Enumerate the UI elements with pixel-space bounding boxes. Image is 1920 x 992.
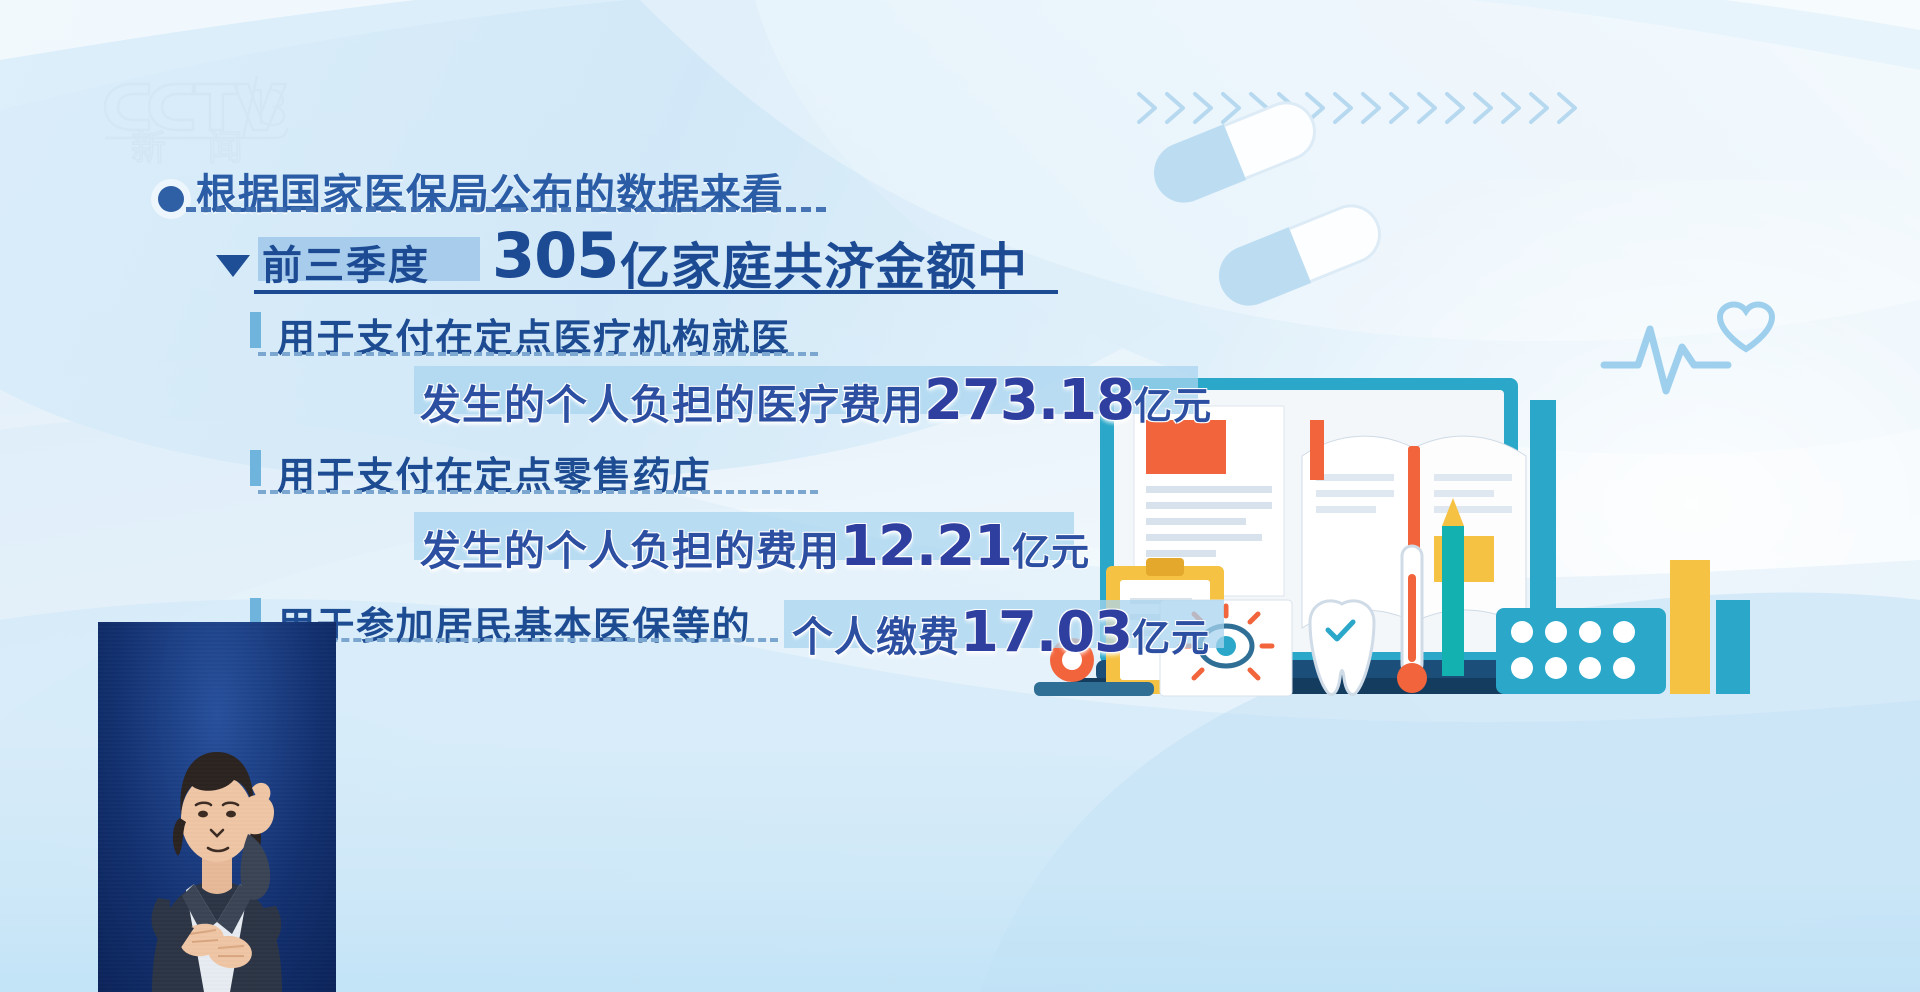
item-value-unit-1: 亿元	[1134, 386, 1212, 428]
intro-underline	[186, 207, 826, 212]
item-value-text-1: 发生的个人负担的医疗费用	[420, 382, 924, 428]
item-bar-2	[250, 450, 261, 486]
period-chip-label: 前三季度	[262, 233, 430, 291]
item-bar-1	[250, 312, 261, 348]
broadcast-graphic-stage: 新 闻	[0, 0, 1920, 992]
item-value-text-3: 个人缴费	[792, 614, 960, 660]
item-value-row-1: 发生的个人负担的医疗费用273.18亿元	[420, 368, 1212, 433]
item-value-number-2: 12.21	[840, 514, 1012, 579]
total-number: 305	[492, 219, 618, 292]
item-dashed-rule-1	[258, 352, 818, 356]
item-value-number-1: 273.18	[924, 368, 1134, 433]
dot-bullet-icon	[158, 186, 184, 212]
item-value-text-2: 发生的个人负担的费用	[420, 528, 840, 574]
item-dashed-rule-2	[258, 490, 818, 494]
item-value-row-2: 发生的个人负担的费用12.21亿元	[420, 514, 1090, 579]
item-value-number-3: 17.03	[960, 600, 1132, 665]
headline-rule	[254, 290, 1058, 294]
item-value-row-3: 个人缴费17.03亿元	[792, 600, 1210, 665]
presenter-figure	[98, 622, 336, 992]
total-tail-label: 亿家庭共济金额中	[620, 227, 1028, 299]
item-value-unit-2: 亿元	[1012, 532, 1090, 574]
triangle-marker-icon	[216, 255, 250, 277]
item-value-unit-3: 亿元	[1132, 618, 1210, 660]
item-dashed-rule-3	[258, 638, 778, 642]
sign-language-presenter-window	[98, 622, 336, 992]
